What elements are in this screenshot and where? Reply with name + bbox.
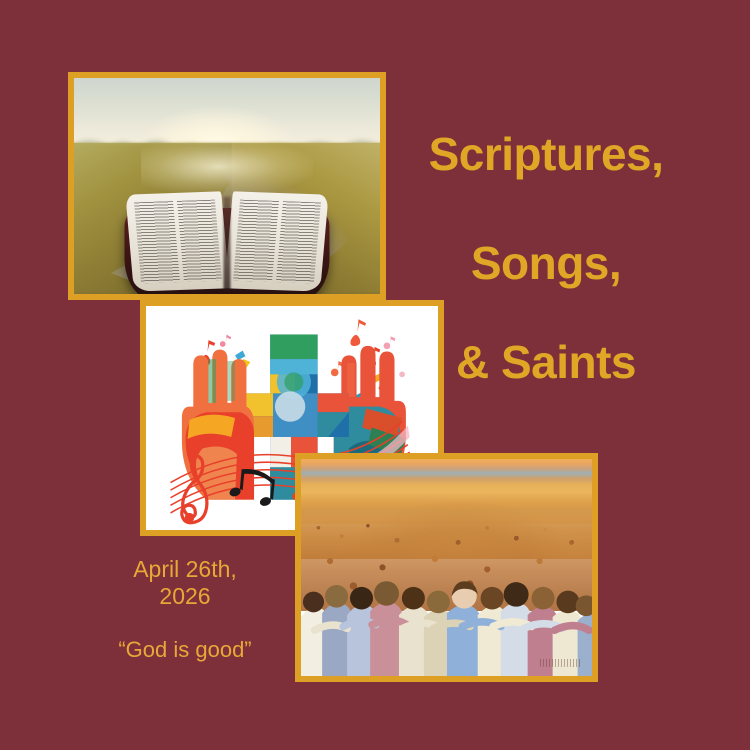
- communion-of-saints-painting: [295, 453, 598, 682]
- event-quote: “God is good”: [85, 637, 285, 663]
- page-title-line-2: Songs,: [396, 240, 696, 286]
- bible-page-left: [126, 191, 231, 291]
- bible-spine: [224, 197, 230, 291]
- sun-glow: [141, 138, 312, 194]
- event-date-line-1: April 26th,: [85, 556, 285, 583]
- open-bible: [124, 188, 329, 294]
- bible-on-path-photo: [68, 72, 386, 300]
- bible-page-right: [224, 191, 329, 291]
- event-date: April 26th, 2026: [85, 556, 285, 610]
- poster-canvas: Scriptures, Songs, & Saints April 26th, …: [0, 0, 750, 750]
- page-title-line-3: & Saints: [396, 339, 696, 385]
- communion-of-saints-inner: [301, 459, 592, 676]
- artist-signature: [540, 659, 581, 668]
- bible-on-path-photo-inner: [74, 78, 380, 294]
- page-title-line-1: Scriptures,: [396, 131, 696, 177]
- event-date-line-2: 2026: [85, 583, 285, 610]
